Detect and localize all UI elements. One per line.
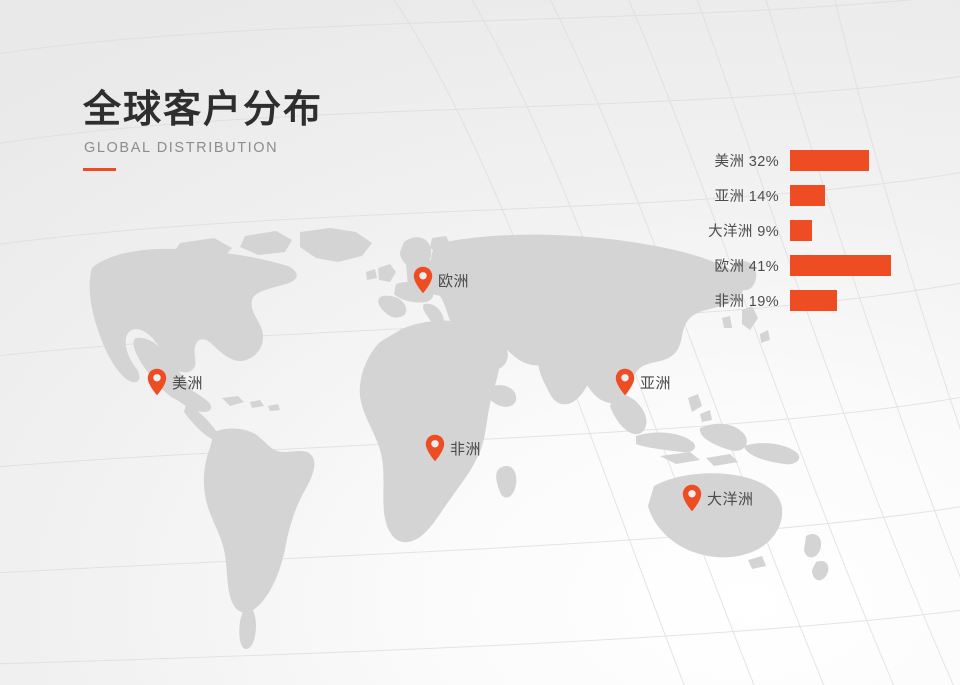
chart-row-label: 大洋洲 9% <box>640 220 790 241</box>
slide-canvas: 全球客户分布 GLOBAL DISTRIBUTION 美洲 欧洲 亚洲 非洲 <box>0 0 960 685</box>
map-marker-africa[interactable]: 非洲 <box>425 434 481 462</box>
map-pin-icon <box>147 368 167 396</box>
chart-row-label: 亚洲 14% <box>640 185 790 206</box>
map-pin-icon <box>413 266 433 294</box>
map-pin-icon <box>425 434 445 462</box>
chart-bar-track <box>790 150 930 171</box>
chart-row: 欧洲 41% <box>640 255 930 276</box>
distribution-bar-chart: 美洲 32% 亚洲 14% 大洋洲 9% 欧洲 41% 非洲 19% <box>640 150 930 311</box>
chart-bar <box>790 150 869 171</box>
page-title: 全球客户分布 <box>83 90 503 131</box>
chart-bar <box>790 185 825 206</box>
chart-bar <box>790 220 812 241</box>
chart-bar-track <box>790 220 930 241</box>
chart-bar <box>790 255 891 276</box>
map-pin-icon <box>682 484 702 512</box>
chart-row: 大洋洲 9% <box>640 220 930 241</box>
chart-bar-track <box>790 255 930 276</box>
map-marker-label: 欧洲 <box>438 270 469 291</box>
chart-row-label: 非洲 19% <box>640 290 790 311</box>
map-marker-label: 大洋洲 <box>707 488 754 509</box>
chart-row: 非洲 19% <box>640 290 930 311</box>
chart-row-label: 美洲 32% <box>640 150 790 171</box>
chart-bar-track <box>790 290 930 311</box>
chart-bar <box>790 290 837 311</box>
map-marker-europe[interactable]: 欧洲 <box>413 266 469 294</box>
heading-block: 全球客户分布 GLOBAL DISTRIBUTION <box>83 90 503 171</box>
map-marker-label: 亚洲 <box>640 372 671 393</box>
map-marker-americas[interactable]: 美洲 <box>147 368 203 396</box>
map-marker-asia[interactable]: 亚洲 <box>615 368 671 396</box>
chart-row: 亚洲 14% <box>640 185 930 206</box>
page-subtitle: GLOBAL DISTRIBUTION <box>84 140 503 156</box>
accent-underline <box>83 168 116 171</box>
chart-row: 美洲 32% <box>640 150 930 171</box>
map-marker-oceania[interactable]: 大洋洲 <box>682 484 754 512</box>
map-marker-label: 美洲 <box>172 372 203 393</box>
map-pin-icon <box>615 368 635 396</box>
chart-row-label: 欧洲 41% <box>640 255 790 276</box>
map-marker-label: 非洲 <box>450 438 481 459</box>
chart-bar-track <box>790 185 930 206</box>
